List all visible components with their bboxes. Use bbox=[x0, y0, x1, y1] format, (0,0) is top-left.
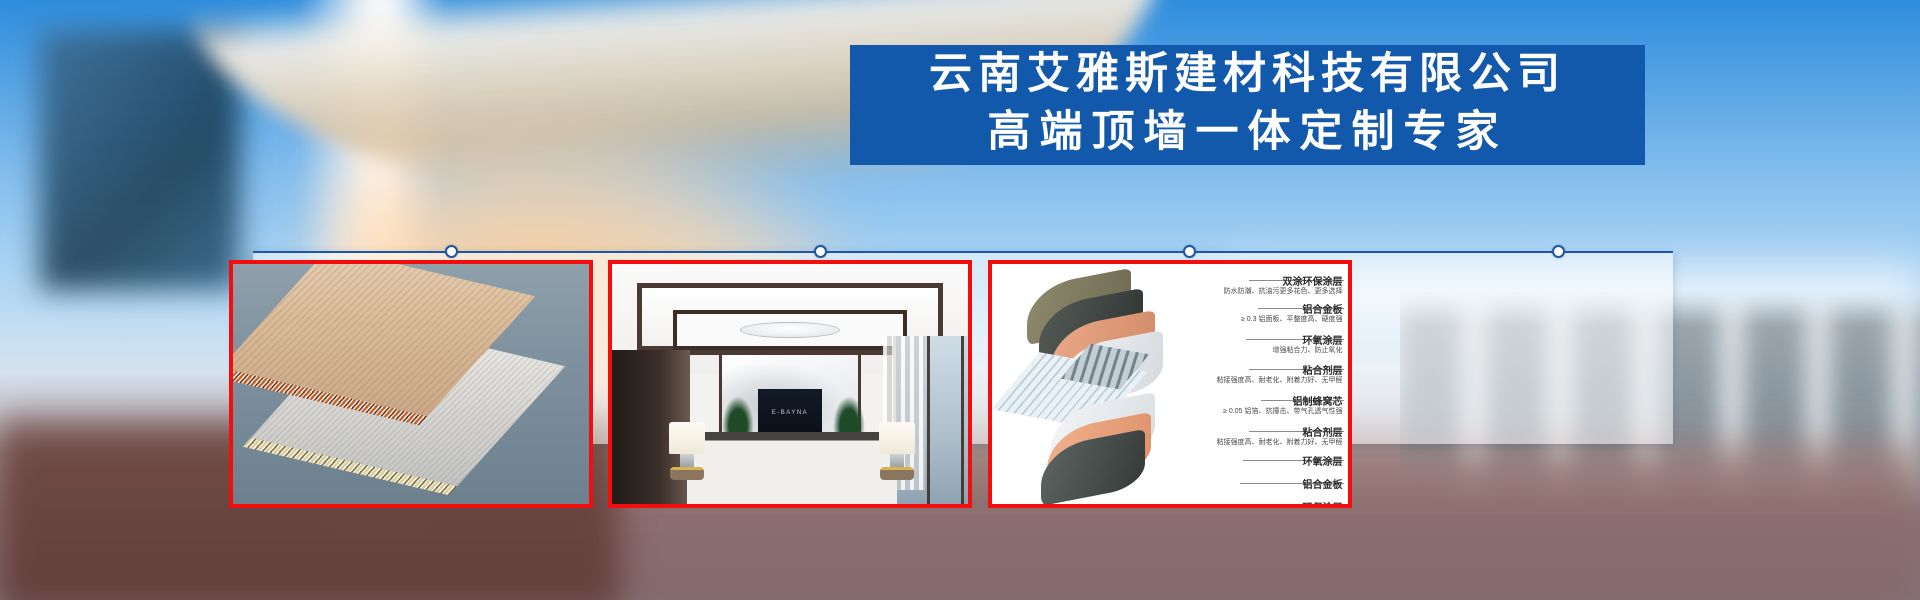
layer-title: 环氧涂层 bbox=[1302, 453, 1342, 468]
layer-desc: 粘接强度高、耐老化、附着力好、无甲醛 bbox=[1216, 375, 1342, 385]
layer-desc: ≥ 0.05 铝箔、抗撞击、带气孔透气性强 bbox=[1223, 406, 1342, 416]
lamp-base bbox=[890, 454, 904, 467]
exploded-layer-artwork bbox=[999, 274, 1198, 495]
layer-title: 铝合金板 bbox=[1302, 476, 1342, 491]
layer-desc: 防水防潮、抗油污更多花色、更多选择 bbox=[1223, 286, 1342, 296]
render-display-screen: E-BAYNA bbox=[758, 389, 822, 437]
render-lamp-left bbox=[669, 422, 705, 480]
lamp-base bbox=[680, 454, 694, 467]
rail-handle-2[interactable] bbox=[814, 245, 827, 258]
layer-desc: ≥ 0.3 铝面板、平整度高、硬度强 bbox=[1241, 314, 1342, 324]
render-lamp-right bbox=[879, 422, 915, 480]
interior-render: E-BAYNA bbox=[612, 264, 968, 504]
layer-desc: 增强粘合力、防止氧化 bbox=[1272, 345, 1342, 355]
rail-handle-3[interactable] bbox=[1183, 245, 1196, 258]
render-screen-label: E-BAYNA bbox=[772, 410, 808, 416]
lamp-shade bbox=[879, 422, 915, 454]
side-table bbox=[670, 467, 704, 480]
side-table bbox=[880, 467, 914, 480]
panel-structure-diagram: 双涂环保涂层 防水防潮、抗油污更多花色、更多选择 铝合金板 ≥ 0.3 铝面板、… bbox=[992, 264, 1348, 504]
layer-desc: 粘接强度高、耐老化、附着力好、无甲醛 bbox=[1216, 437, 1342, 447]
rail-handle-1[interactable] bbox=[445, 245, 458, 258]
layer-callout-list: 双涂环保涂层 防水防潮、抗油污更多花色、更多选择 铝合金板 ≥ 0.3 铝面板、… bbox=[1195, 271, 1345, 497]
product-gallery: E-BAYNA bbox=[253, 252, 1673, 444]
gallery-slide-product-photo[interactable] bbox=[229, 260, 593, 508]
banner-stage: 云南艾雅斯建材科技有限公司 高端顶墙一体定制专家 bbox=[0, 0, 1920, 600]
company-title-banner: 云南艾雅斯建材科技有限公司 高端顶墙一体定制专家 bbox=[850, 45, 1645, 165]
company-slogan-line: 高端顶墙一体定制专家 bbox=[988, 103, 1508, 161]
layer-title: 环保涂层 bbox=[1302, 499, 1342, 508]
gallery-slide-interior-render[interactable]: E-BAYNA bbox=[608, 260, 972, 508]
lamp-shade bbox=[669, 422, 705, 454]
honeycomb-board-photo bbox=[233, 264, 589, 504]
company-name-line: 云南艾雅斯建材科技有限公司 bbox=[929, 45, 1566, 103]
render-reception-counter bbox=[687, 432, 897, 504]
gallery-rail[interactable] bbox=[253, 251, 1673, 253]
gallery-slide-layer-diagram[interactable]: 双涂环保涂层 防水防潮、抗油污更多花色、更多选择 铝合金板 ≥ 0.3 铝面板、… bbox=[988, 260, 1352, 508]
